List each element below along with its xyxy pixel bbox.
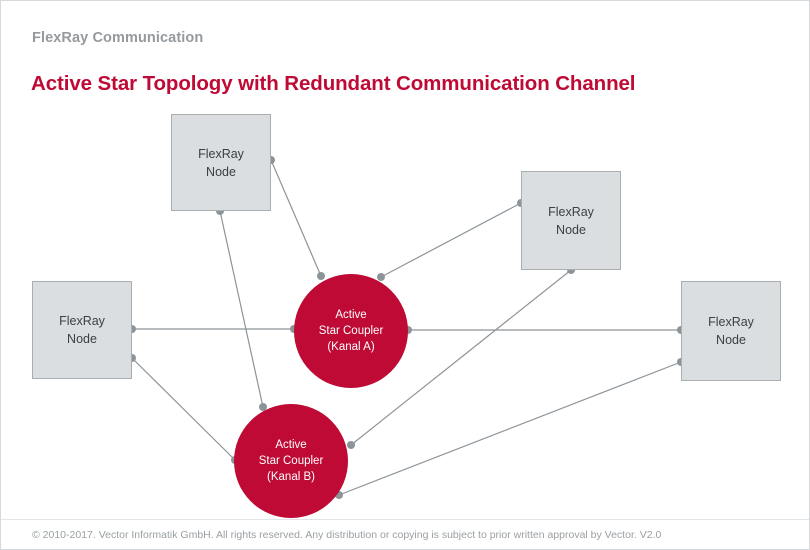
link-top-right-to-a — [381, 203, 521, 277]
link-left-to-b — [132, 358, 235, 460]
flexray-node-left[interactable]: FlexRay Node — [32, 281, 132, 379]
flexray-node-left-label: FlexRay Node — [59, 312, 105, 348]
diagram-connections — [1, 1, 810, 550]
footer-divider — [1, 519, 810, 520]
flexray-node-top-right-label: FlexRay Node — [548, 203, 594, 239]
flexray-node-right-label: FlexRay Node — [708, 313, 754, 349]
active-star-coupler-b[interactable]: Active Star Coupler (Kanal B) — [234, 404, 348, 518]
diagram-canvas: FlexRay Node FlexRay Node FlexRay Node F… — [1, 97, 810, 517]
flexray-node-right[interactable]: FlexRay Node — [681, 281, 781, 381]
link-top-left-to-a — [271, 160, 321, 276]
slide-page: FlexRay Communication Active Star Topolo… — [0, 0, 810, 550]
flexray-node-top-right[interactable]: FlexRay Node — [521, 171, 621, 270]
dot-coupler-a-top-left — [317, 272, 325, 280]
link-right-to-b — [339, 362, 681, 495]
link-top-left-to-b — [220, 211, 263, 407]
dot-coupler-a-top-right — [377, 273, 385, 281]
flexray-node-top-left-label: FlexRay Node — [198, 145, 244, 181]
copyright-notice: © 2010-2017. Vector Informatik GmbH. All… — [32, 529, 661, 541]
active-star-coupler-a-label: Active Star Coupler (Kanal A) — [319, 307, 384, 355]
dot-coupler-b-right — [347, 441, 355, 449]
active-star-coupler-a[interactable]: Active Star Coupler (Kanal A) — [294, 274, 408, 388]
flexray-node-top-left[interactable]: FlexRay Node — [171, 114, 271, 211]
active-star-coupler-b-label: Active Star Coupler (Kanal B) — [259, 437, 324, 485]
